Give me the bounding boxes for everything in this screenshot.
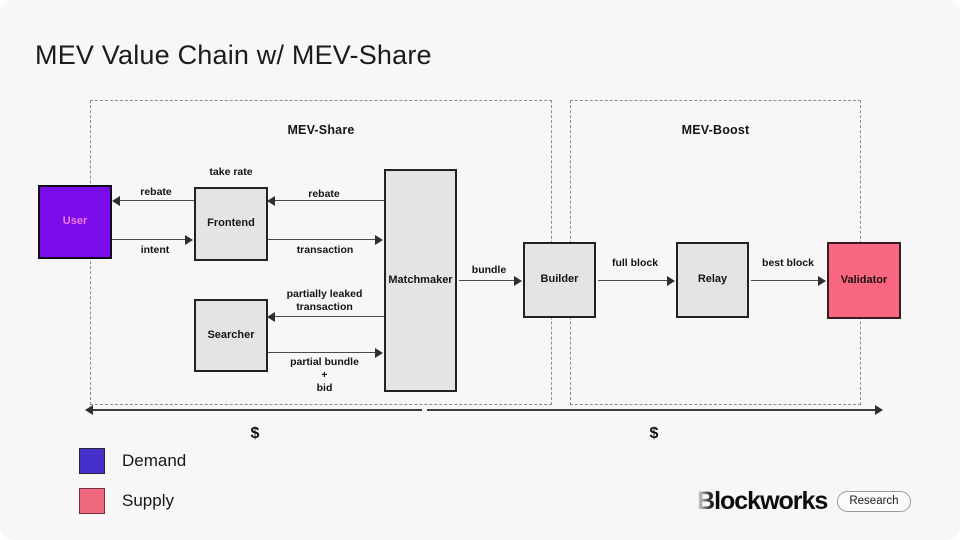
node-builder[interactable]: Builder: [523, 242, 596, 318]
edge-rebate-user-line: [114, 200, 194, 201]
edge-partial-bundle-line: [268, 352, 376, 353]
legend-label-supply: Supply: [122, 491, 174, 511]
edge-intent-line: [112, 239, 186, 240]
group-mev-share-label: MEV-Share: [91, 123, 551, 137]
edge-partially-leaked-line: [270, 316, 384, 317]
edge-bundle-line: [459, 280, 516, 281]
legend-item-demand: Demand: [79, 448, 186, 474]
node-validator-label: Validator: [841, 274, 887, 287]
edge-rebate-user-label: rebate: [130, 186, 182, 199]
edge-rebate-user-arrowhead: [112, 196, 120, 206]
value-flow-left-arrowhead: [85, 405, 93, 415]
group-mev-boost-label: MEV-Boost: [571, 123, 860, 137]
edge-full-block-line: [598, 280, 669, 281]
value-flow-right-label: $: [619, 425, 689, 443]
legend-swatch-supply: [79, 488, 105, 514]
node-matchmaker[interactable]: Matchmaker: [384, 169, 457, 392]
edge-partially-leaked-line2: transaction: [296, 301, 353, 313]
node-relay[interactable]: Relay: [676, 242, 749, 318]
edge-bundle-label: bundle: [462, 264, 516, 277]
value-flow-right-line: [427, 409, 877, 411]
legend-item-supply: Supply: [79, 488, 174, 514]
edge-best-block-arrowhead: [818, 276, 826, 286]
edge-best-block-line: [751, 280, 821, 281]
edge-partially-leaked-line1: partially leaked: [287, 288, 363, 300]
edge-full-block-label: full block: [602, 257, 668, 270]
edge-partial-bundle-line1: partial bundle: [290, 356, 359, 368]
node-builder-label: Builder: [541, 273, 579, 286]
blockworks-rest: lockworks: [714, 487, 827, 515]
edge-bundle-arrowhead: [514, 276, 522, 286]
edge-transaction-label: transaction: [287, 244, 363, 257]
edge-rebate-frontend-arrowhead: [267, 196, 275, 206]
value-flow-left-label: $: [220, 425, 290, 443]
value-flow-right-arrowhead: [875, 405, 883, 415]
node-matchmaker-label: Matchmaker: [388, 274, 452, 287]
node-frontend[interactable]: Frontend: [194, 187, 268, 261]
blockworks-logo: Blockworks Research: [697, 489, 911, 514]
page-title: MEV Value Chain w/ MEV-Share: [35, 40, 432, 71]
edge-transaction-arrowhead: [375, 235, 383, 245]
node-validator[interactable]: Validator: [827, 242, 901, 319]
edge-take-rate-label: take rate: [200, 166, 262, 179]
blockworks-initial: B: [697, 487, 714, 515]
legend-swatch-demand: [79, 448, 105, 474]
node-user[interactable]: User: [38, 185, 112, 259]
edge-partial-bundle-line3: bid: [317, 382, 333, 394]
node-relay-label: Relay: [698, 273, 727, 286]
edge-intent-label: intent: [130, 244, 180, 257]
edge-full-block-arrowhead: [667, 276, 675, 286]
node-user-label: User: [63, 215, 87, 228]
value-flow-left-line: [92, 409, 422, 411]
research-badge: Research: [837, 491, 910, 512]
edge-partial-bundle-line2: +: [321, 369, 327, 381]
node-searcher-label: Searcher: [207, 329, 254, 342]
edge-intent-arrowhead: [185, 235, 193, 245]
node-searcher[interactable]: Searcher: [194, 299, 268, 372]
edge-partial-bundle-label: partial bundle + bid: [272, 356, 377, 395]
node-frontend-label: Frontend: [207, 217, 255, 230]
edge-partially-leaked-label: partially leaked transaction: [272, 288, 377, 314]
edge-rebate-frontend-label: rebate: [298, 188, 350, 201]
diagram-canvas: MEV Value Chain w/ MEV-Share MEV-Share M…: [0, 0, 960, 540]
edge-best-block-label: best block: [754, 257, 822, 270]
edge-transaction-line: [268, 239, 376, 240]
legend-label-demand: Demand: [122, 451, 186, 471]
blockworks-wordmark: Blockworks: [697, 489, 827, 514]
